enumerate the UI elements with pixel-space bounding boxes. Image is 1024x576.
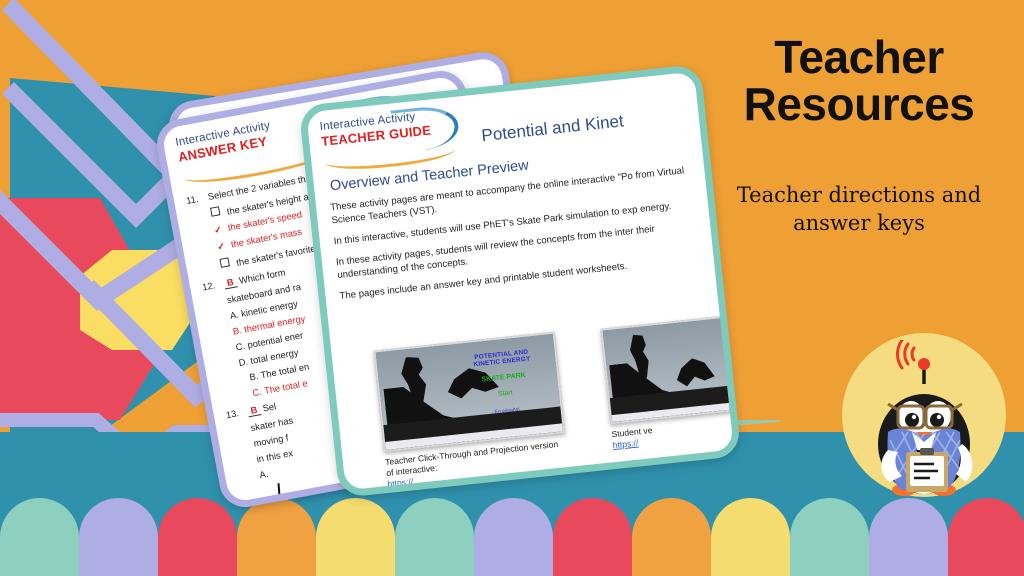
page-title: Teacher Resources xyxy=(704,34,1014,129)
arch-shape-5 xyxy=(395,498,474,576)
wifi-icon xyxy=(897,340,914,368)
document-page-teacher-guide[interactable]: Interactive Activity TEACHER GUIDE Poten… xyxy=(299,64,742,498)
arch-shape-2 xyxy=(158,498,237,576)
q12b-choice-b-letter: B. xyxy=(249,371,259,382)
q13-choice-a-letter: A. xyxy=(259,469,269,480)
q12b-choice-c-letter: C. xyxy=(252,387,263,399)
arch-shape-6 xyxy=(474,498,553,576)
arch-shape-4 xyxy=(316,498,395,576)
q12-number: 12. xyxy=(201,279,224,293)
q12b-choice-c-label: The total e xyxy=(263,378,308,396)
q13-answer: B xyxy=(247,404,262,417)
q12-choice-a-letter: A. xyxy=(229,310,239,321)
q12-choice-b-letter: B. xyxy=(232,325,242,336)
penguin-eye-glint-left xyxy=(912,415,916,419)
q11-number: 11. xyxy=(185,192,208,206)
penguin-mascot xyxy=(844,340,1004,510)
arch-shape-3 xyxy=(237,498,316,576)
q12b-choice-b-label: The total en xyxy=(260,362,310,381)
arch-shape-0 xyxy=(0,498,79,576)
penguin-eye-glint-right xyxy=(937,415,941,419)
interactive-screenshot-teacher[interactable]: POTENTIAL AND KINETIC ENERGY SKATE PARK … xyxy=(373,332,565,452)
q12-choice-d-letter: D. xyxy=(238,357,249,369)
penguin-pupil-left xyxy=(905,413,919,427)
q12-answer: B xyxy=(223,276,238,289)
page-title-line1: Teacher xyxy=(704,34,1014,81)
thumbnail-teacher-version[interactable]: POTENTIAL AND KINETIC ENERGY SKATE PARK … xyxy=(373,332,565,490)
thumbnail-student-version[interactable]: Student ve https:// xyxy=(600,314,741,451)
slide-canvas: Kinetic Energy Interactive Activity ANSW… xyxy=(0,0,1024,576)
clipboard-clip xyxy=(920,448,934,455)
penguin-pupil-right xyxy=(930,413,944,427)
checkbox-icon[interactable] xyxy=(210,206,220,216)
arch-shape-1 xyxy=(79,498,158,576)
q12-choice-d-label: total energy xyxy=(250,347,300,366)
arch-shape-9 xyxy=(711,498,790,576)
checkbox-icon[interactable] xyxy=(219,257,229,267)
q13-number: 13. xyxy=(225,406,248,420)
thumbnail-url-student[interactable]: https:// xyxy=(612,438,639,451)
page-subtitle: Teacher directions and answer keys xyxy=(704,182,1014,237)
thumbnail-url-teacher[interactable]: https:// xyxy=(387,477,414,490)
antenna-ball xyxy=(918,358,930,370)
arch-shape-8 xyxy=(632,498,711,576)
q13-text: Sel xyxy=(262,401,277,413)
arch-shape-7 xyxy=(553,498,632,576)
page-title-line2: Resources xyxy=(704,81,1014,128)
q12-text: Which form xyxy=(238,267,286,285)
q12-choice-c-letter: C. xyxy=(235,341,246,353)
interactive-screenshot-student[interactable] xyxy=(600,315,741,425)
